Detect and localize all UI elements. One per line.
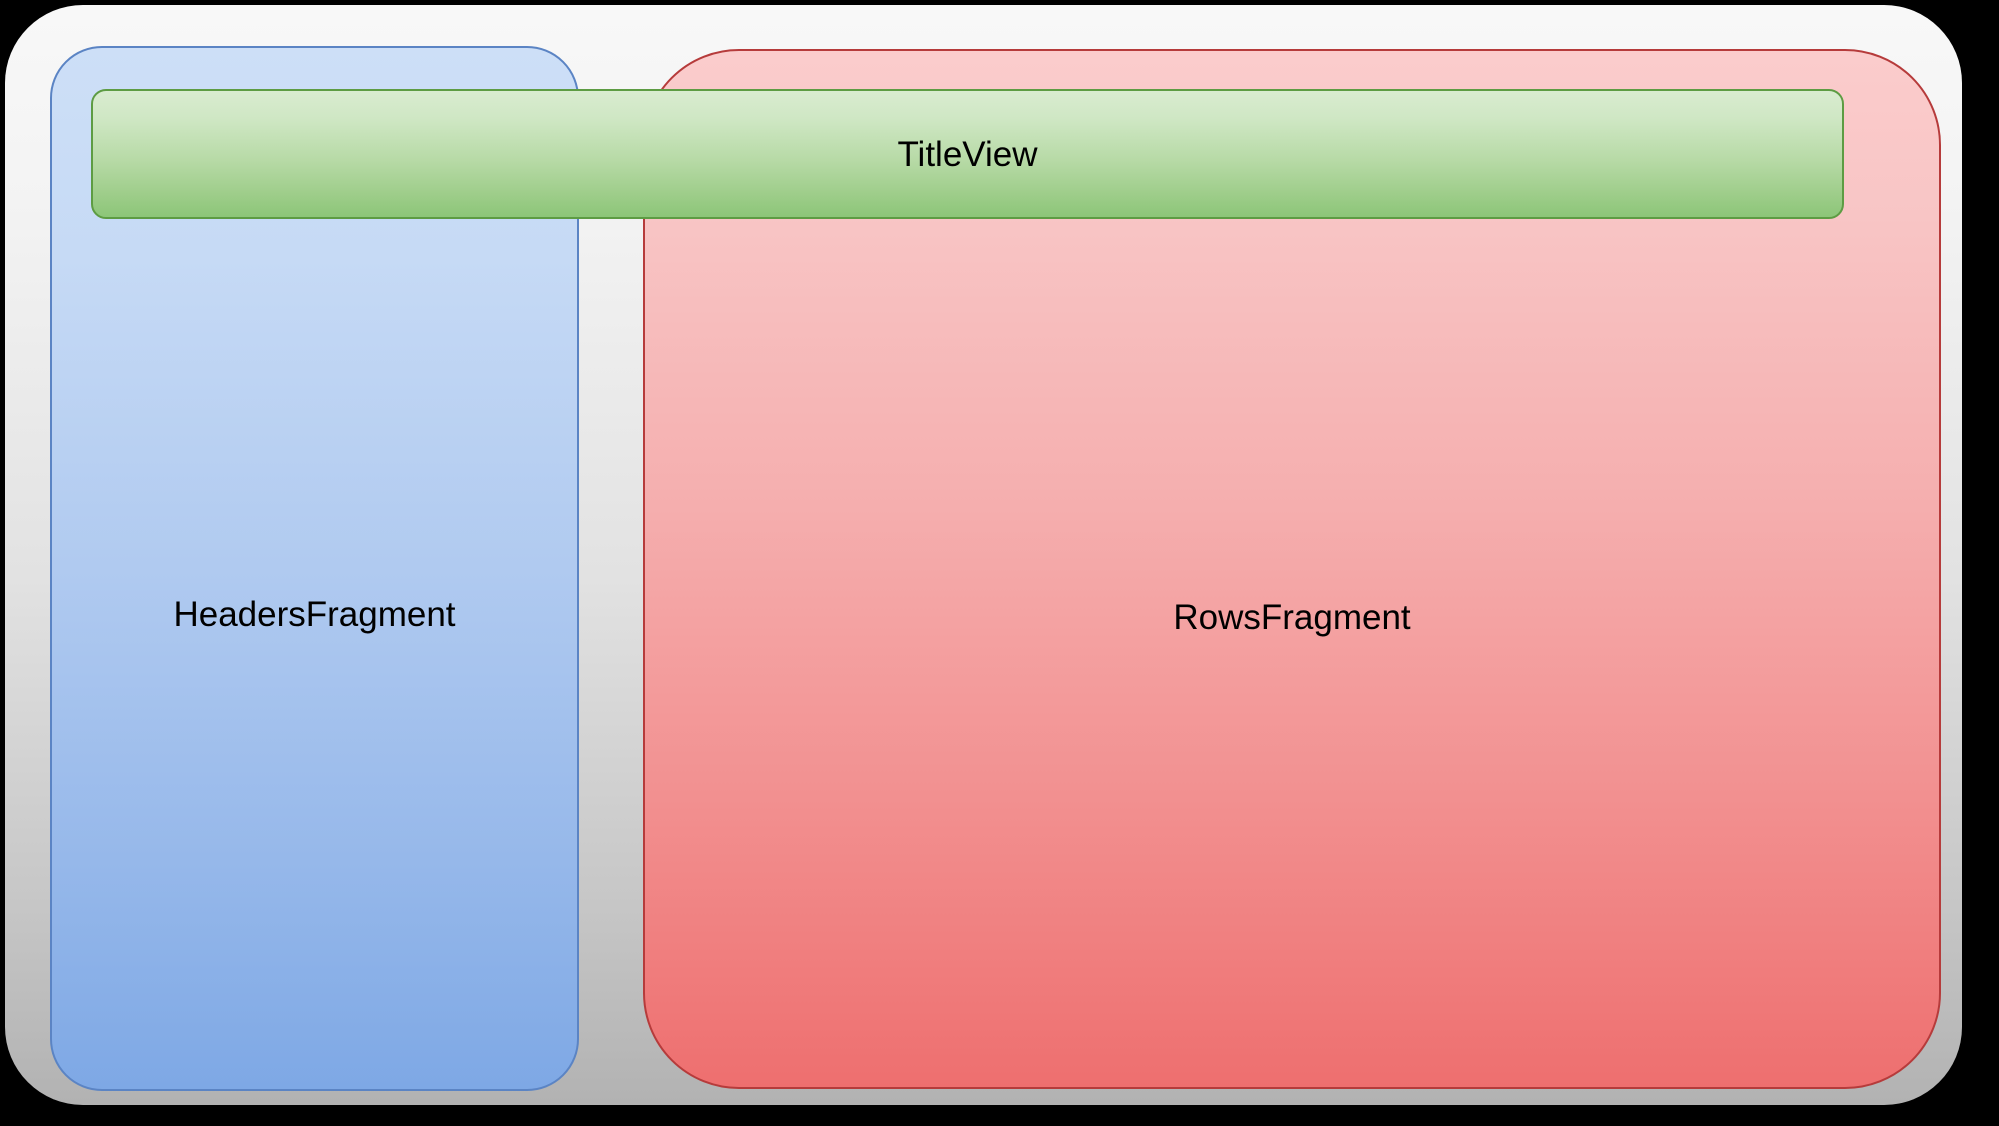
- headers-fragment-label: HeadersFragment: [52, 597, 577, 632]
- title-view-label: TitleView: [897, 137, 1037, 172]
- title-view-box[interactable]: TitleView: [91, 89, 1844, 219]
- diagram-canvas: HeadersFragment RowsFragment TitleView: [0, 0, 1999, 1126]
- rows-fragment-label: RowsFragment: [645, 600, 1939, 635]
- browse-fragment-container: HeadersFragment RowsFragment TitleView: [5, 5, 1962, 1105]
